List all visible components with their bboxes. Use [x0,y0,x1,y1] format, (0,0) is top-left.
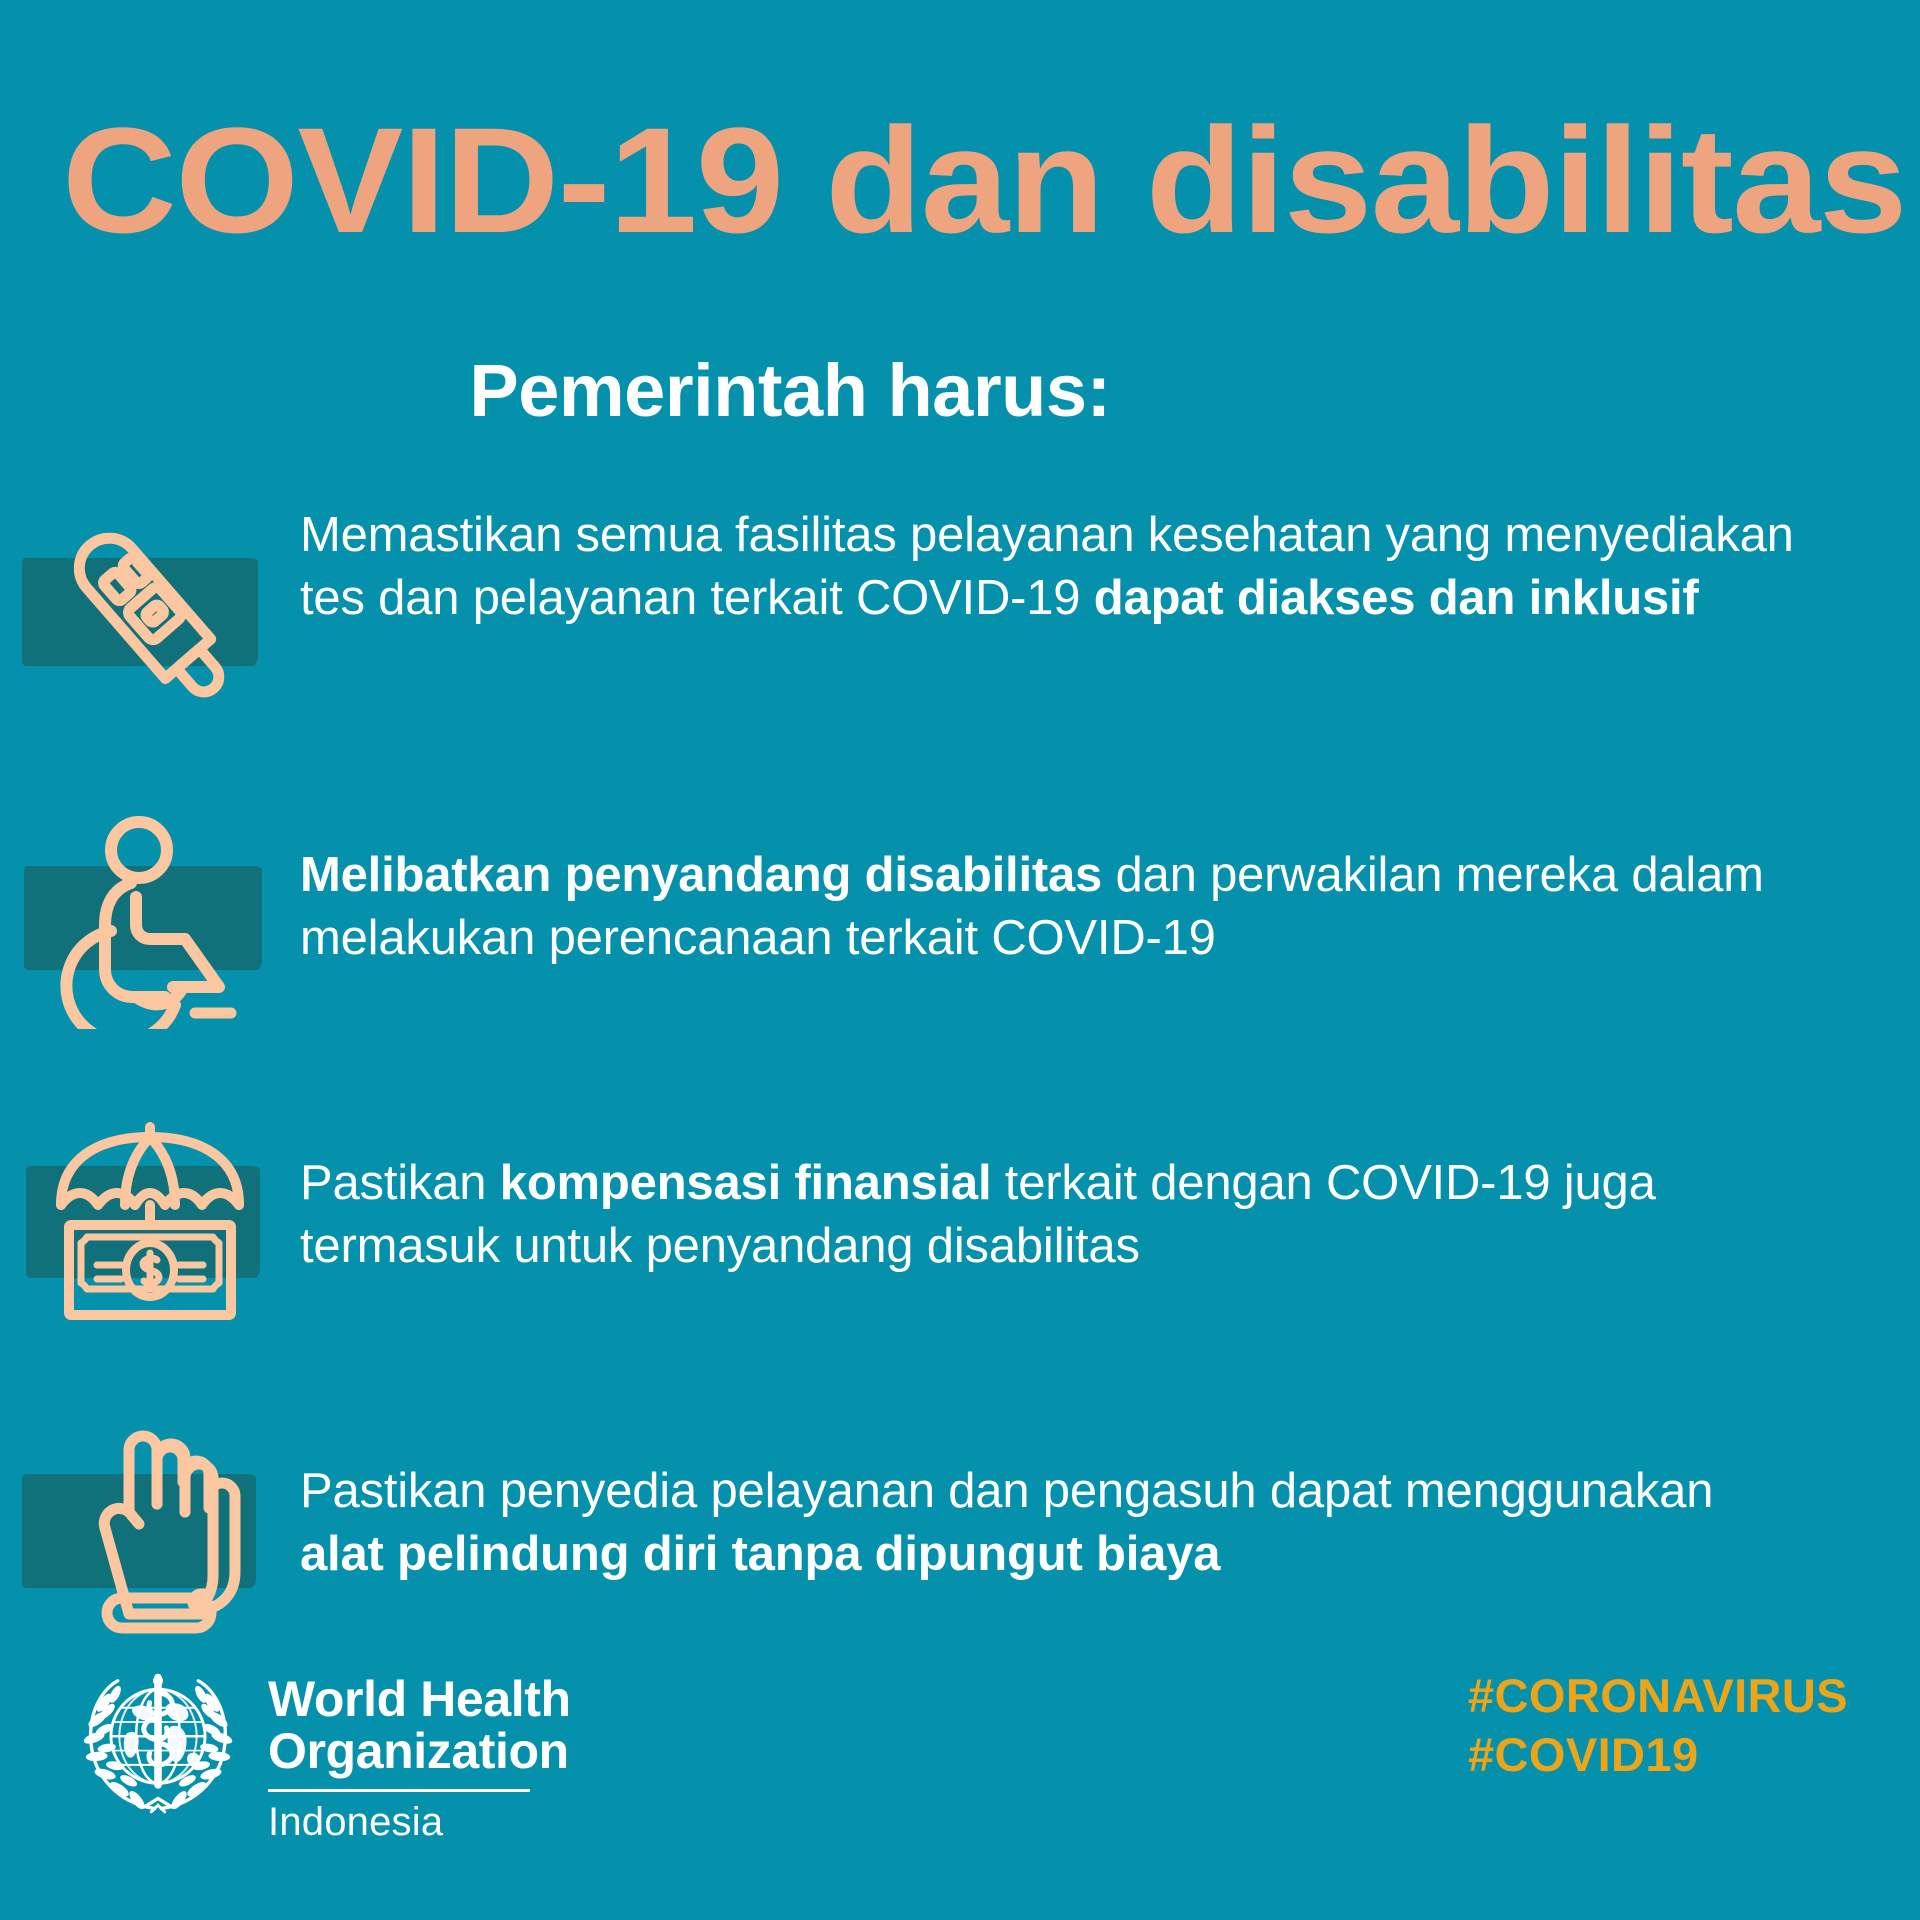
who-country-label: Indonesia [268,1802,571,1842]
who-logo: World Health Organization Indonesia [74,1659,571,1842]
list-item-text: Pastikan kompensasi finansial terkait de… [300,1108,1920,1277]
infographic-poster: COVID-19 dan disabilitas Pemerintah haru… [0,0,1920,1920]
text-bold: dapat diakses dan inklusif [1094,571,1699,625]
thermometer-icon [35,505,265,725]
list-item: Memastikan semua fasilitas pelayanan kes… [0,500,1920,730]
list-item: Melibatkan penyandang disabilitas dan pe… [0,804,1920,1034]
who-emblem-icon [74,1659,242,1827]
text-bold: kompensasi finansial [500,1156,992,1210]
hashtag-coronavirus: #CORONAVIRUS [1468,1667,1848,1725]
page-title: COVID-19 dan disabilitas [62,104,1920,257]
subtitle-heading: Pemerintah harus: [0,352,1580,430]
who-divider [268,1789,530,1792]
list-item: Pastikan penyedia pelayanan dan pengasuh… [0,1412,1920,1642]
who-org-line-2: Organization [268,1725,571,1777]
gloves-icon [35,1412,265,1642]
text-bold: alat pelindung diri tanpa dipungut biaya [300,1527,1220,1581]
list-item-text: Melibatkan penyandang disabilitas dan pe… [300,804,1920,969]
hashtag-block: #CORONAVIRUS #COVID19 [1468,1667,1848,1784]
who-org-line-1: World Health [268,1673,571,1725]
icon-slot [0,500,300,730]
text-bold: Melibatkan penyandang disabilitas [300,848,1102,902]
who-wordmark: World Health Organization Indonesia [268,1659,571,1842]
icon-slot [0,804,300,1034]
icon-slot [0,1412,300,1642]
text-regular: Pastikan [300,1156,500,1210]
recommendation-list: Memastikan semua fasilitas pelayanan kes… [0,500,1920,1716]
list-item: Pastikan kompensasi finansial terkait de… [0,1108,1920,1338]
text-regular: Pastikan penyedia pelayanan dan pengasuh… [300,1464,1713,1518]
hashtag-covid19: #COVID19 [1468,1726,1848,1784]
icon-slot [0,1108,300,1338]
list-item-text: Pastikan penyedia pelayanan dan pengasuh… [300,1412,1920,1585]
list-item-text: Memastikan semua fasilitas pelayanan kes… [300,500,1920,629]
wheelchair-icon [35,809,265,1029]
umbrella-money-icon [35,1113,265,1333]
